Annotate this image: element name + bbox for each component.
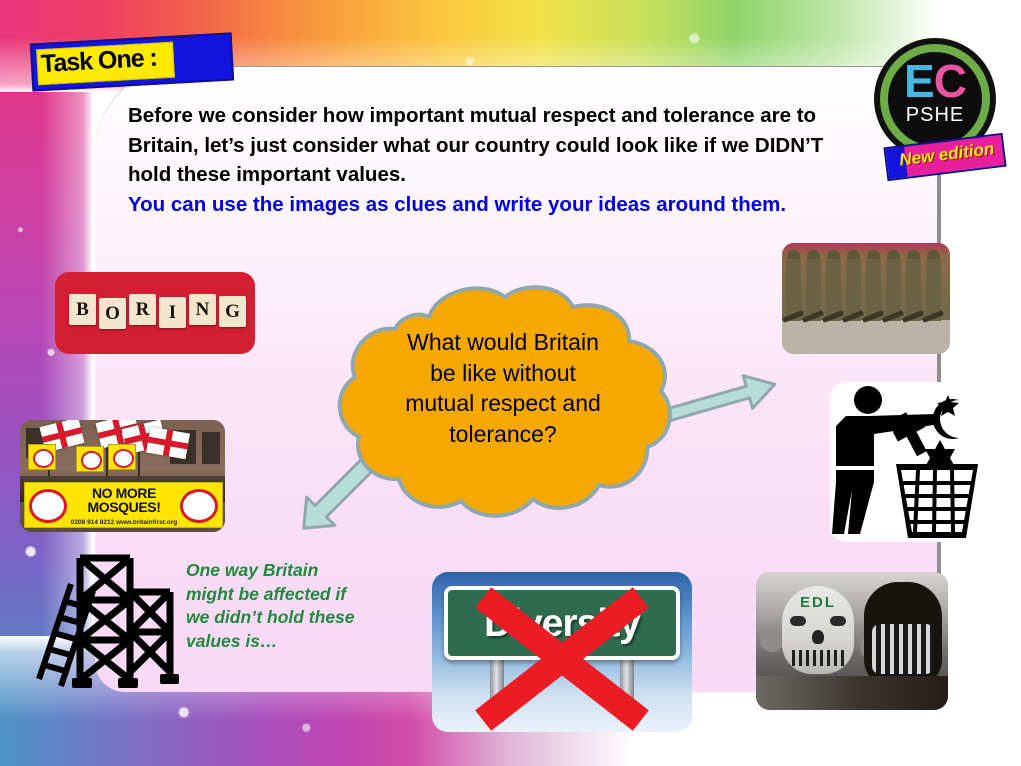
religion-in-bin-pictogram <box>830 382 990 542</box>
protest-placard <box>76 446 104 472</box>
no-mosque-symbol <box>180 489 218 523</box>
ec-pshe-logo: EC PSHE New edition <box>869 36 1005 180</box>
student-prompt-note: One way Britain might be affected if we … <box>186 559 361 654</box>
person-head <box>854 386 882 414</box>
edl-mask-label: EDL <box>782 594 854 611</box>
protest-placard <box>108 444 136 470</box>
window <box>202 432 220 464</box>
banner-line-2: MOSQUES! <box>87 499 160 515</box>
soldier <box>826 259 841 321</box>
mask-eye <box>830 616 846 626</box>
protesters-bodies <box>756 676 948 710</box>
masked-protesters-image: EDL <box>756 572 948 710</box>
soldier <box>806 259 821 321</box>
page-title: Before we consider how important mutual … <box>128 101 868 219</box>
mask-eye <box>790 616 806 626</box>
marching-soldiers-image <box>782 243 950 354</box>
thought-cloud-text: What would Britain be like without mutua… <box>369 327 637 449</box>
cloud-line-3: mutual respect and <box>369 388 637 419</box>
scrabble-tile: I <box>159 297 186 328</box>
logo-subtitle: PSHE <box>888 104 982 127</box>
red-cross-overlay <box>462 584 662 732</box>
task-one-label: Task One : <box>40 39 202 80</box>
no-more-mosques-protest-image: NO MORE MOSQUES! 0208 914 8212 www.brita… <box>20 420 225 532</box>
cloud-line-1: What would Britain <box>369 327 637 358</box>
protest-placard <box>28 444 56 470</box>
logo-letter-e: E <box>904 55 934 107</box>
scrabble-tile: B <box>69 294 96 325</box>
person-legs <box>832 470 874 534</box>
cloud-line-2: be like without <box>369 358 637 389</box>
mask-teeth <box>792 650 844 666</box>
soldier <box>886 259 901 321</box>
thought-cloud: What would Britain be like without mutua… <box>325 283 681 527</box>
soldier <box>786 259 801 321</box>
soldier <box>846 259 861 321</box>
no-mosque-symbol <box>29 489 67 523</box>
diversity-sign-image: Diversity <box>432 572 692 732</box>
skull-mask-left: EDL <box>782 586 854 674</box>
headline-instruction: You can use the images as clues and writ… <box>128 190 868 220</box>
person-torso-arm <box>836 414 940 466</box>
boring-image: B O R I N G <box>55 272 255 354</box>
logo-letter-c: C <box>934 55 966 107</box>
protest-banner: NO MORE MOSQUES! 0208 914 8212 www.brita… <box>24 482 223 528</box>
scrabble-tile: G <box>219 296 246 327</box>
religion-in-bin-image <box>830 382 990 542</box>
skull-bandana <box>872 624 934 674</box>
waste-bin <box>896 464 978 538</box>
soldier <box>906 259 921 321</box>
parade-ground <box>782 320 950 354</box>
cloud-line-4: tolerance? <box>369 419 637 450</box>
protest-banner-title: NO MORE MOSQUES! <box>65 486 183 514</box>
soldier <box>926 259 941 321</box>
logo-initials: EC <box>888 56 982 106</box>
mask-nose <box>812 630 824 644</box>
balaclava-mask-right <box>864 582 942 686</box>
scaffold-tower-svg <box>25 548 185 698</box>
soldier <box>866 259 881 321</box>
scaffold-tower-icon <box>25 548 185 698</box>
protest-banner-contact: 0208 914 8212 www.britainfirst.org <box>49 519 199 526</box>
scrabble-tile: N <box>189 294 216 325</box>
scrabble-tile: R <box>129 294 156 325</box>
slide-canvas: Before we consider how important mutual … <box>0 0 1021 766</box>
scrabble-tile: O <box>99 298 126 329</box>
background-face <box>760 628 784 652</box>
headline-line-1: Before we consider how important mutual … <box>128 104 791 127</box>
scrabble-tiles: B O R I N G <box>69 294 246 329</box>
